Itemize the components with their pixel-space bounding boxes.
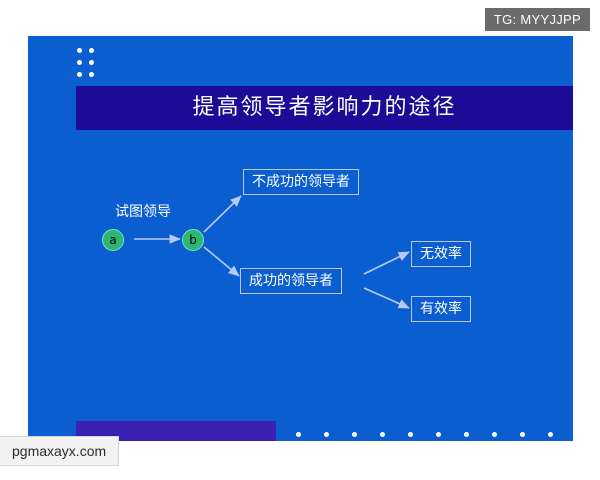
decorative-dot [89,60,94,65]
decorative-dot [89,48,94,53]
box-ineffective[interactable]: 无效率 [411,241,471,267]
slide-canvas: 提高领导者影响力的途径 试图领导 a b 不成功的领导者 成功的领导者 无效率 … [28,36,573,441]
decorative-dot [408,432,413,437]
decorative-dot [89,72,94,77]
decorative-dot [77,60,82,65]
decorative-dot [77,48,82,53]
decorative-dot [548,432,553,437]
box-unsuccessful-leader[interactable]: 不成功的领导者 [243,169,359,195]
decorative-dot [77,72,82,77]
site-watermark: pgmaxayx.com [0,436,119,466]
node-b[interactable]: b [182,229,204,251]
caption-try-to-lead: 试图领导 [115,201,171,221]
decorative-dot [324,432,329,437]
decorative-dot [352,432,357,437]
node-a[interactable]: a [102,229,124,251]
telegram-watermark: TG: MYYJJPP [485,8,590,31]
decorative-dot [436,432,441,437]
decorative-dot [492,432,497,437]
decorative-dot [464,432,469,437]
decorative-dot [380,432,385,437]
box-effective[interactable]: 有效率 [411,296,471,322]
decorative-dot [296,432,301,437]
box-successful-leader[interactable]: 成功的领导者 [240,268,342,294]
page-title: 提高领导者影响力的途径 [76,86,573,130]
decorative-dot [520,432,525,437]
